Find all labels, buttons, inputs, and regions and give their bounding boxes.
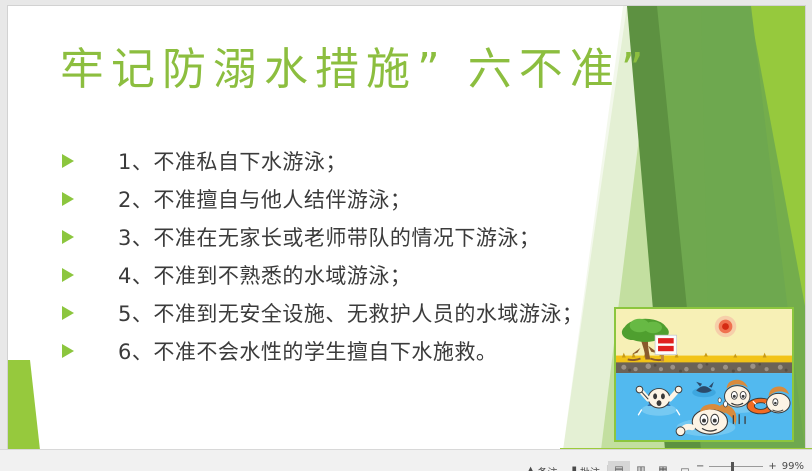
zoom-out-button[interactable]: −: [696, 461, 704, 471]
triangle-bullet-icon: [54, 344, 118, 358]
page-title: 牢记防溺水措施” 六不准”: [60, 42, 651, 97]
list-item[interactable]: 1、不准私自下水游泳；: [54, 142, 694, 180]
normal-view-icon: ▤: [614, 465, 623, 471]
triangle-bullet-icon: [54, 230, 118, 244]
zoom-control[interactable]: − + 99%: [696, 461, 812, 471]
comments-icon: ▮: [571, 466, 577, 471]
list-item-label: 5、不准到无安全设施、无救护人员的水域游泳；: [118, 298, 583, 328]
list-item[interactable]: 3、不准在无家长或老师带队的情况下游泳；: [54, 218, 694, 256]
slide-sorter-view-icon: ▥: [636, 465, 645, 471]
list-item-label: 4、不准到不熟悉的水域游泳；: [118, 260, 411, 290]
slideshow-view-button[interactable]: ▭: [674, 461, 696, 471]
normal-view-button[interactable]: ▤: [608, 461, 630, 471]
zoom-in-button[interactable]: +: [768, 461, 776, 471]
triangle-bullet-icon: [54, 306, 118, 320]
list-item[interactable]: 4、不准到不熟悉的水域游泳；: [54, 256, 694, 294]
status-bar: ▲ 备注 ▮ 批注 ▤ ▥ ▦ ▭ − + 99%: [0, 449, 812, 471]
list-item[interactable]: 6、不准不会水性的学生擅自下水施救。: [54, 332, 694, 370]
slideshow-view-icon: ▭: [680, 465, 689, 471]
list-item-label: 1、不准私自下水游泳；: [118, 146, 347, 176]
list-item-label: 6、不准不会水性的学生擅自下水施救。: [118, 336, 497, 366]
comments-label: 批注: [580, 464, 600, 471]
list-item[interactable]: 5、不准到无安全设施、无救护人员的水域游泳；: [54, 294, 694, 332]
triangle-bullet-icon: [54, 192, 118, 206]
bullet-list: 1、不准私自下水游泳； 2、不准擅自与他人结伴游泳； 3、不准在无家长或老师带队…: [54, 142, 694, 370]
list-item-label: 2、不准擅自与他人结伴游泳；: [118, 184, 411, 214]
notes-icon: ▲: [527, 466, 535, 471]
list-item-label: 3、不准在无家长或老师带队的情况下游泳；: [118, 222, 540, 252]
drowning-warning-cartoon[interactable]: [614, 307, 794, 442]
decorative-green-wedge-left: [8, 360, 128, 450]
triangle-bullet-icon: [54, 154, 118, 168]
zoom-level-label[interactable]: 99%: [782, 461, 804, 471]
slide-canvas[interactable]: 牢记防溺水措施” 六不准” 1、不准私自下水游泳； 2、不准擅自与他人结伴游泳；…: [8, 6, 805, 450]
notes-label: 备注: [537, 464, 557, 471]
comments-button[interactable]: ▮ 批注: [564, 461, 607, 471]
zoom-slider-handle[interactable]: [731, 462, 734, 471]
reading-view-icon: ▦: [658, 465, 667, 471]
notes-button[interactable]: ▲ 备注: [520, 461, 565, 471]
reading-view-button[interactable]: ▦: [652, 461, 674, 471]
powerpoint-workspace: 牢记防溺水措施” 六不准” 1、不准私自下水游泳； 2、不准擅自与他人结伴游泳；…: [0, 0, 812, 471]
zoom-slider[interactable]: [709, 466, 763, 467]
list-item[interactable]: 2、不准擅自与他人结伴游泳；: [54, 180, 694, 218]
slide-sorter-view-button[interactable]: ▥: [630, 461, 652, 471]
triangle-bullet-icon: [54, 268, 118, 282]
